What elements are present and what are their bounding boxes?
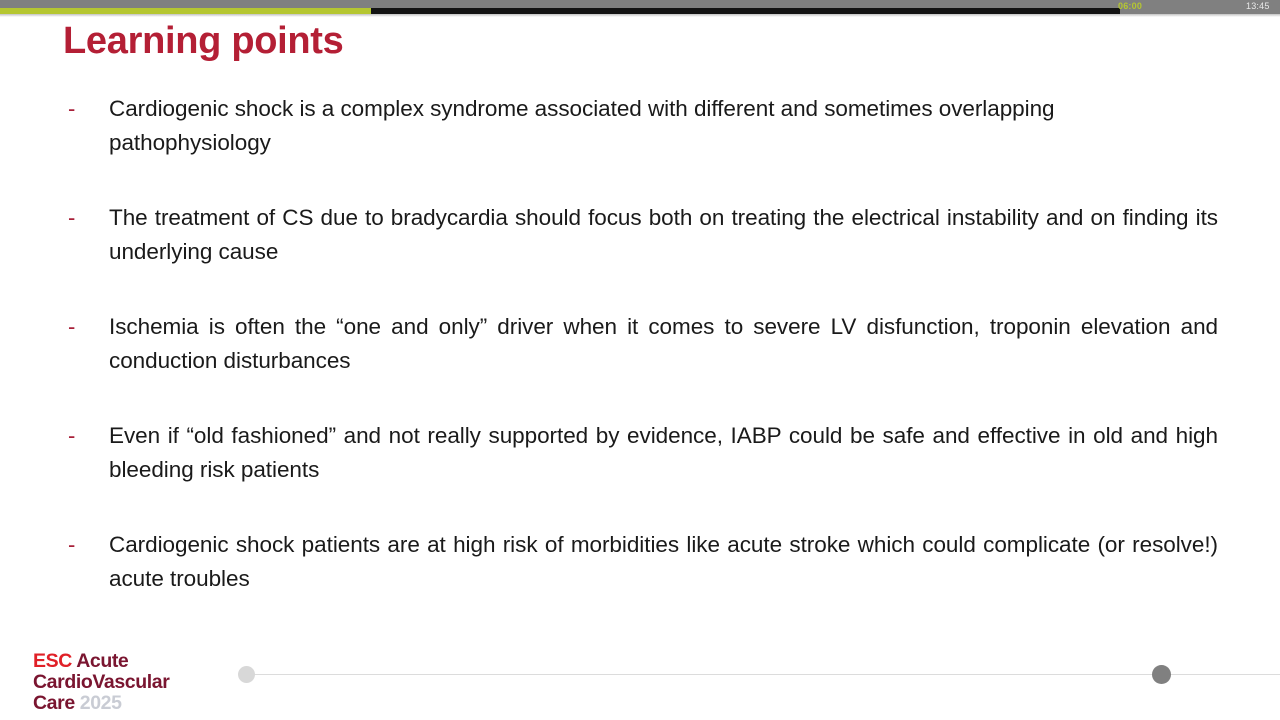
esc-acute-cardiovascular-care-logo: ESC Acute CardioVascular Care 2025 xyxy=(33,651,243,714)
slider-track[interactable] xyxy=(240,674,1280,675)
bullet-dash-icon: - xyxy=(68,419,82,453)
bullet-dash-icon: - xyxy=(68,201,82,235)
bullet-dash-icon: - xyxy=(68,92,82,126)
topbar-shadow xyxy=(0,14,1280,17)
current-time-label: 06:00 xyxy=(1118,0,1142,13)
list-item-text: Even if “old fashioned” and not really s… xyxy=(109,419,1218,487)
slide-canvas: Learning points - Cardiogenic shock is a… xyxy=(0,14,1280,720)
learning-points-list: - Cardiogenic shock is a complex syndrom… xyxy=(63,92,1218,596)
logo-care-text: Care xyxy=(33,692,75,714)
list-item: - Cardiogenic shock is a complex syndrom… xyxy=(63,92,1218,160)
logo-line-1: ESC Acute xyxy=(33,651,243,672)
progress-bar-played xyxy=(0,8,371,14)
bullet-dash-icon: - xyxy=(68,310,82,344)
progress-bar-track[interactable] xyxy=(0,4,1280,10)
slider-handle-right[interactable] xyxy=(1152,665,1171,684)
list-item: - Ischemia is often the “one and only” d… xyxy=(63,310,1218,378)
list-item-text: The treatment of CS due to bradycardia s… xyxy=(109,201,1218,269)
logo-year-text: 2025 xyxy=(80,692,122,714)
list-item-text: Cardiogenic shock is a complex syndrome … xyxy=(109,92,1218,160)
logo-acute-text: Acute xyxy=(72,650,128,672)
list-item-text: Cardiogenic shock patients are at high r… xyxy=(109,528,1218,596)
list-item: - Even if “old fashioned” and not really… xyxy=(63,419,1218,487)
list-item-text: Ischemia is often the “one and only” dri… xyxy=(109,310,1218,378)
logo-esc-text: ESC xyxy=(33,650,72,672)
video-player-bar[interactable]: 06:00 13:45 xyxy=(0,0,1280,14)
logo-line-3: Care 2025 xyxy=(33,693,243,714)
list-item: - Cardiogenic shock patients are at high… xyxy=(63,528,1218,596)
duration-label: 13:45 xyxy=(1246,0,1270,13)
logo-line-2: CardioVascular xyxy=(33,672,243,693)
bullet-dash-icon: - xyxy=(68,528,82,562)
page-title: Learning points xyxy=(63,20,344,63)
list-item: - The treatment of CS due to bradycardia… xyxy=(63,201,1218,269)
